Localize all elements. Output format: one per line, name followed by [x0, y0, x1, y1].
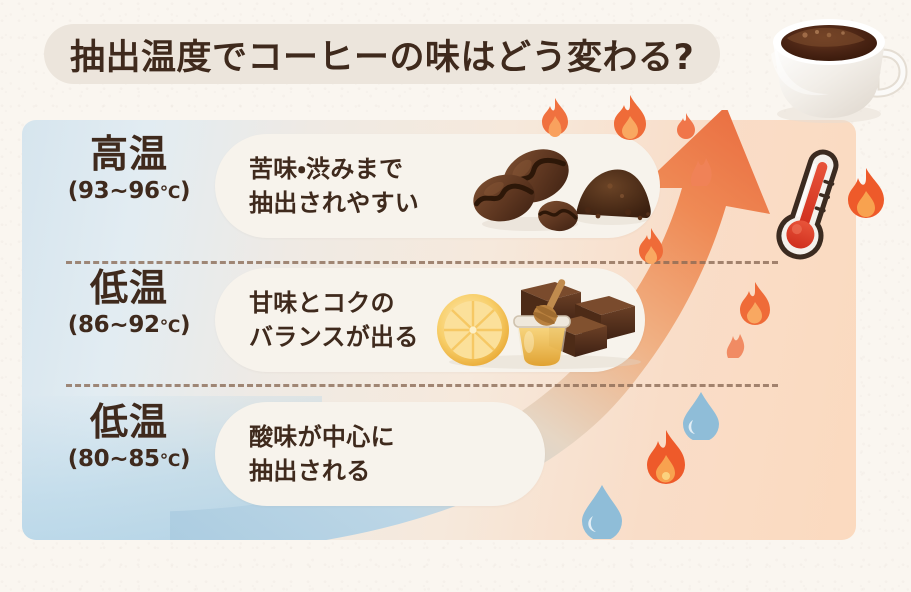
flame-icon: [540, 98, 570, 138]
description-text: 甘味とコクの バランスが出る: [215, 286, 419, 354]
temperature-label-3: 低温 (80~85℃): [44, 402, 214, 474]
coffee-beans-and-grounds-icon: [470, 136, 660, 236]
flame-icon: [612, 95, 648, 143]
temperature-name: 高温: [44, 134, 214, 175]
temperature-label-2: 低温 (86~92℃): [44, 268, 214, 340]
description-text: 酸味が中心に 抽出される: [215, 420, 395, 488]
page-title: 抽出温度でコーヒーの味はどう変わる?: [70, 29, 694, 80]
temperature-label-1: 高温 (93~96℃): [44, 134, 214, 206]
temperature-range: (80~85℃): [44, 445, 214, 474]
temperature-unit: ℃: [160, 183, 180, 203]
table-row: 低温 (86~92℃) 甘味とコクの バランスが出る: [0, 268, 911, 392]
table-row: 低温 (80~85℃) 酸味が中心に 抽出される: [0, 402, 911, 526]
temperature-range: (93~96℃): [44, 177, 214, 206]
temperature-unit: ℃: [160, 451, 180, 471]
description-card-3: 酸味が中心に 抽出される: [215, 402, 545, 506]
water-drop-icon: [683, 392, 719, 440]
temperature-range-close: ): [180, 446, 190, 472]
coffee-cup-icon: [757, 2, 909, 130]
thermometer-icon: [770, 140, 850, 270]
temperature-range-close: ): [180, 178, 190, 204]
temperature-range-value: (86~92: [68, 312, 160, 338]
flame-icon: [738, 282, 772, 328]
flame-icon: [676, 113, 696, 141]
description-text: 苦味・渋みまで 抽出されやすい: [215, 152, 419, 220]
flame-icon: [644, 430, 688, 488]
water-drop-icon: [582, 485, 622, 539]
flame-icon: [846, 168, 886, 222]
temperature-range: (86~92℃): [44, 311, 214, 340]
temperature-name: 低温: [44, 402, 214, 443]
infographic-canvas: 抽出温度でコーヒーの味はどう変わる?: [0, 0, 911, 592]
page-title-banner: 抽出温度でコーヒーの味はどう変わる?: [44, 24, 720, 84]
temperature-unit: ℃: [160, 317, 180, 337]
temperature-name: 低温: [44, 268, 214, 309]
flame-icon: [637, 228, 665, 266]
row-divider-1: [66, 261, 778, 264]
temperature-range-value: (93~96: [68, 178, 160, 204]
orange-honey-chocolate-icon: [425, 270, 655, 370]
flame-icon: [724, 328, 746, 358]
temperature-range-value: (80~85: [68, 446, 160, 472]
temperature-range-close: ): [180, 312, 190, 338]
flame-icon: [688, 150, 714, 186]
